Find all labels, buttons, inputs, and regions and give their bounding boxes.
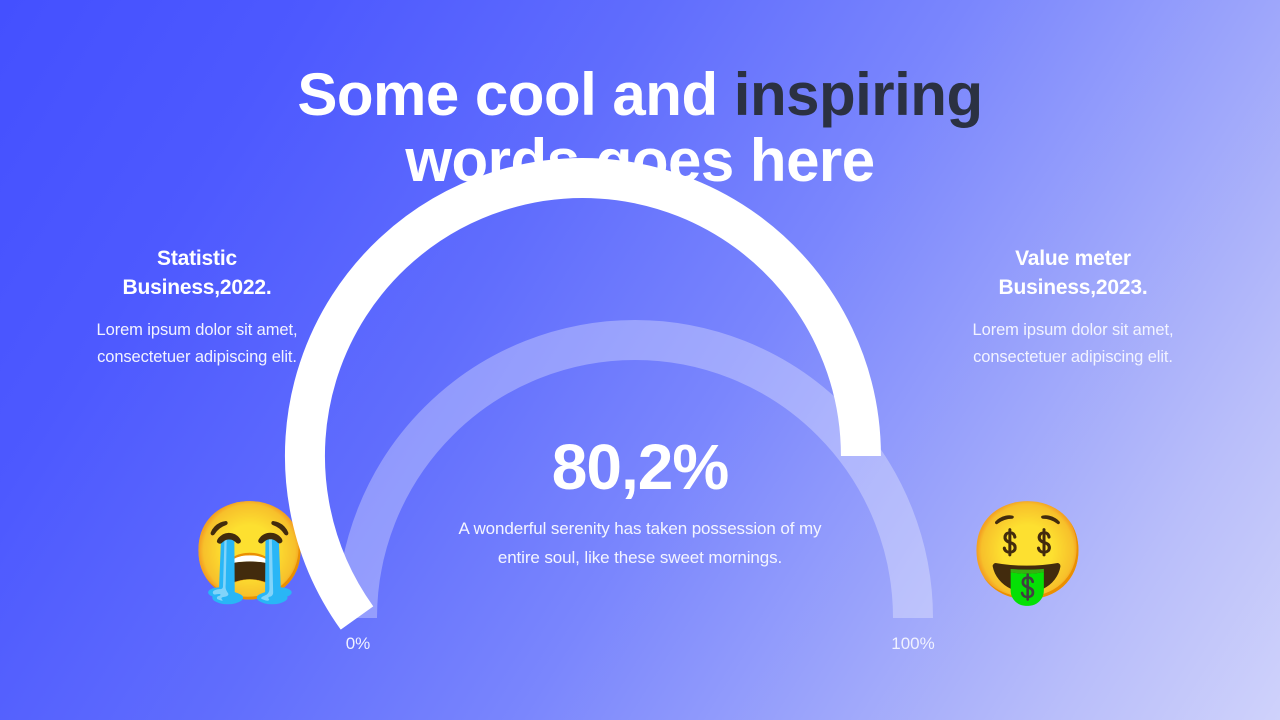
right-stat-column: Value meter Business,2023. Lorem ipsum d… [948, 244, 1198, 371]
money-mouth-face-icon: 🤑 [968, 504, 1088, 600]
left-heading-line2: Business,2022. [123, 276, 272, 299]
left-heading-line1: Statistic [157, 247, 237, 270]
left-column-body: Lorem ipsum dolor sit amet, consectetuer… [72, 317, 322, 371]
gauge-min-label: 0% [318, 633, 398, 655]
right-column-body: Lorem ipsum dolor sit amet, consectetuer… [948, 317, 1198, 371]
title-plain-text: Some cool and [297, 61, 733, 128]
slide-root: Some cool and inspiring words goes here … [0, 0, 1280, 720]
right-heading-line2: Business,2023. [999, 276, 1148, 299]
title-accent-text: inspiring [734, 61, 983, 128]
gauge-value: 80,2% [440, 432, 840, 502]
right-heading-line1: Value meter [1015, 247, 1131, 270]
left-column-heading: Statistic Business,2022. [72, 244, 322, 302]
gauge-caption: A wonderful serenity has taken possessio… [440, 514, 840, 572]
gauge-max-label: 100% [873, 633, 953, 655]
gauge-readout: 80,2% A wonderful serenity has taken pos… [440, 432, 840, 572]
right-column-heading: Value meter Business,2023. [948, 244, 1198, 302]
left-stat-column: Statistic Business,2022. Lorem ipsum dol… [72, 244, 322, 371]
